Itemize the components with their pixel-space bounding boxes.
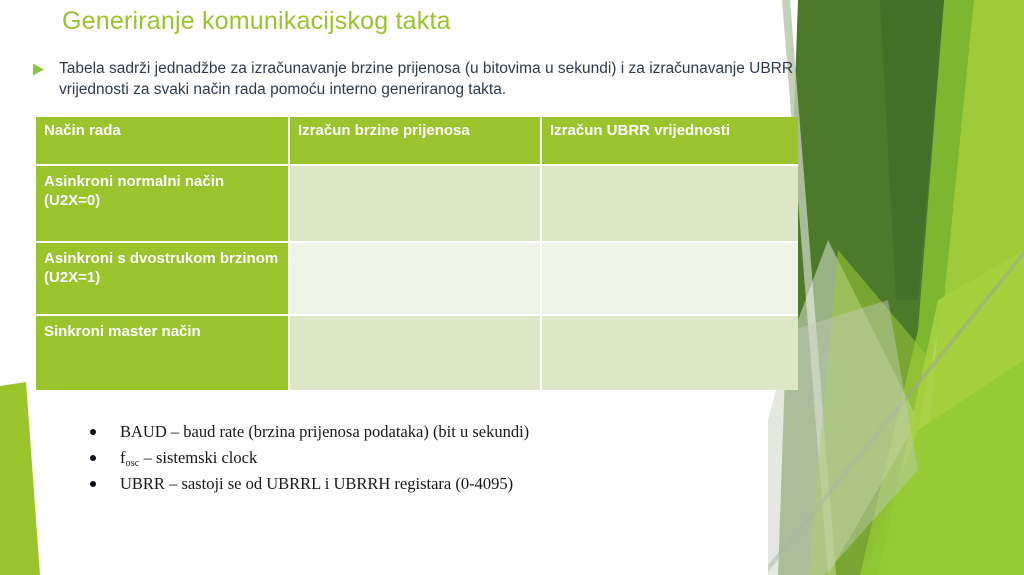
note-term: BAUD [120, 422, 167, 441]
cell-baud-formula [290, 314, 542, 390]
list-item: BAUD – baud rate (brzina prijenosa podat… [90, 420, 682, 446]
note-description: – sastoji se od UBRRL i UBRRH registara … [165, 474, 513, 493]
cell-mode: Asinkroni normalni način (U2X=0) [36, 164, 290, 241]
note-description: – sistemski clock [139, 448, 257, 467]
cell-ubrr-formula [542, 314, 798, 390]
cell-mode: Asinkroni s dvostrukom brzinom (U2X=1) [36, 241, 290, 314]
slide-canvas: Generiranje komunikacijskog takta Tabela… [0, 0, 1024, 575]
column-header-ubrr: Izračun UBRR vrijednosti [542, 117, 798, 164]
cell-ubrr-formula [542, 241, 798, 314]
baud-rate-table: Način rada Izračun brzine prijenosa Izra… [36, 117, 798, 390]
list-item: UBRR – sastoji se od UBRRL i UBRRH regis… [90, 472, 682, 498]
table-row: Asinkroni s dvostrukom brzinom (U2X=1) [36, 241, 798, 314]
note-term: f [120, 448, 126, 467]
table-row: Asinkroni normalni način (U2X=0) [36, 164, 798, 241]
triangle-right-icon [32, 58, 50, 76]
intro-bullet: Tabela sadrži jednadžbe za izračunavanje… [32, 58, 822, 100]
table-header-row: Način rada Izračun brzine prijenosa Izra… [36, 117, 798, 164]
page-title: Generiranje komunikacijskog takta [62, 4, 762, 38]
cell-mode: Sinkroni master način [36, 314, 290, 390]
legend-list: BAUD – baud rate (brzina prijenosa podat… [62, 420, 682, 498]
cell-ubrr-formula [542, 164, 798, 241]
cell-baud-formula [290, 164, 542, 241]
cell-baud-formula [290, 241, 542, 314]
column-header-mode: Način rada [36, 117, 290, 164]
list-item: fosc – sistemski clock [90, 446, 682, 472]
column-header-baud: Izračun brzine prijenosa [290, 117, 542, 164]
note-term: UBRR [120, 474, 165, 493]
note-description: – baud rate (brzina prijenosa podataka) … [167, 422, 529, 441]
table-row: Sinkroni master način [36, 314, 798, 390]
intro-text: Tabela sadrži jednadžbe za izračunavanje… [50, 58, 822, 100]
note-subscript: osc [126, 458, 140, 469]
